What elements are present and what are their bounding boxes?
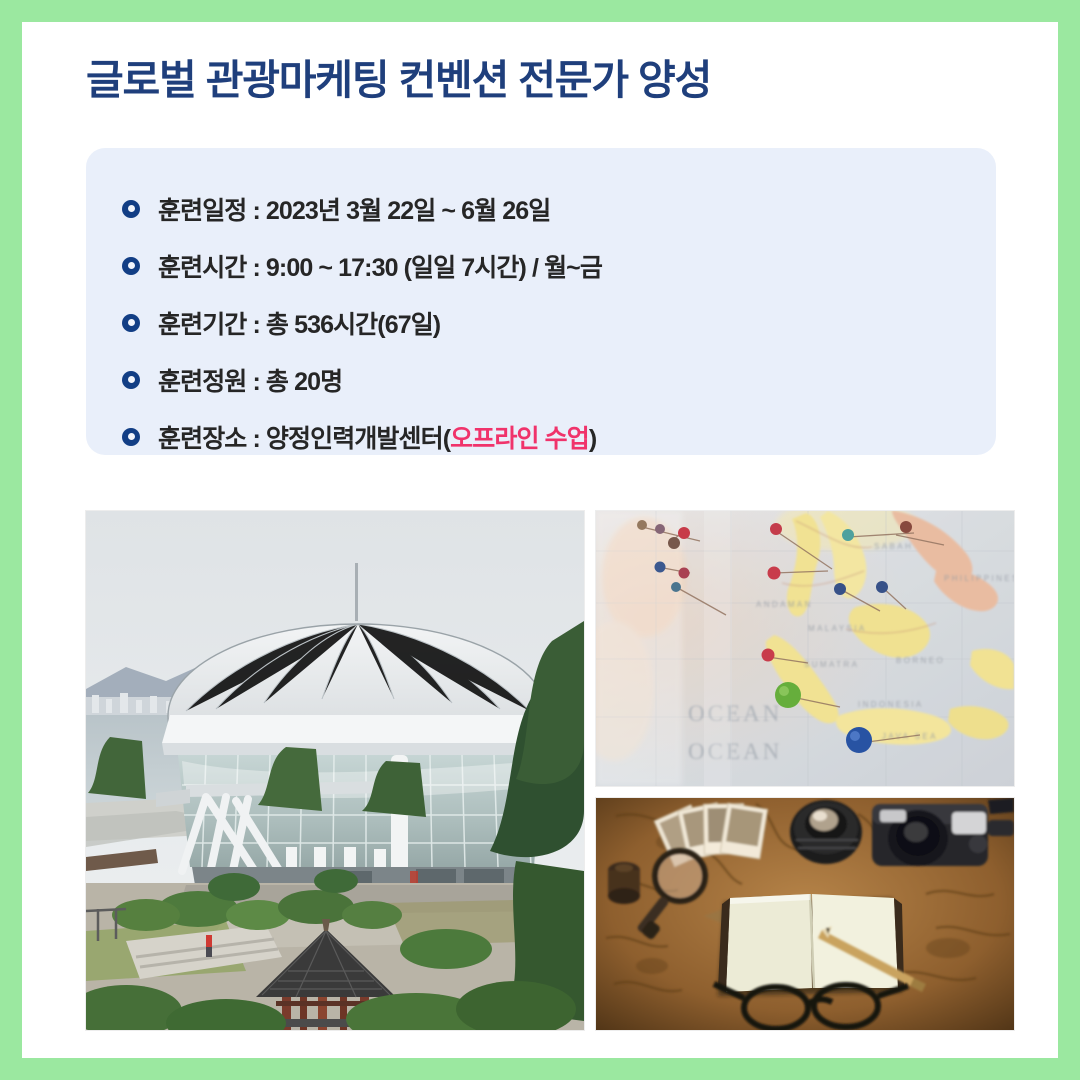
info-row-capacity-text: 훈련정원 : 총 20명 [158,362,342,398]
info-row-hours: 훈련시간 : 9:00 ~ 17:30 (일일 7시간) / 월~금 [86,237,996,294]
info-row-duration: 훈련기간 : 총 536시간(67일) [86,294,996,351]
info-row-capacity: 훈련정원 : 총 20명 [86,351,996,408]
info-location-prefix: 훈련장소 : 양정인력개발센터( [158,425,450,453]
bullet-icon [122,428,140,446]
photo-gallery: OCEAN OCEAN MALAYSIA INDONESIA SABAH PHI… [86,511,1014,1030]
info-row-schedule-text: 훈련일정 : 2023년 3월 22일 ~ 6월 26일 [158,191,550,227]
bullet-icon [122,314,140,332]
info-location-suffix: ) [589,425,596,453]
bullet-icon [122,200,140,218]
info-row-location: 훈련장소 : 양정인력개발센터(오프라인 수업) [86,408,996,465]
training-info-box: 훈련일정 : 2023년 3월 22일 ~ 6월 26일 훈련시간 : 9:00… [86,148,996,455]
world-map-pins-photo: OCEAN OCEAN MALAYSIA INDONESIA SABAH PHI… [596,511,1014,786]
page-title: 글로벌 관광마케팅 컨벤션 전문가 양성 [86,46,986,106]
convention-center-photo [86,511,584,1030]
info-location-highlight: 오프라인 수업 [450,425,589,453]
info-row-hours-text: 훈련시간 : 9:00 ~ 17:30 (일일 7시간) / 월~금 [158,248,602,284]
bullet-icon [122,371,140,389]
bullet-icon [122,257,140,275]
info-row-location-text: 훈련장소 : 양정인력개발센터(오프라인 수업) [158,419,596,455]
info-row-schedule: 훈련일정 : 2023년 3월 22일 ~ 6월 26일 [86,180,996,237]
poster-page: 글로벌 관광마케팅 컨벤션 전문가 양성 훈련일정 : 2023년 3월 22일… [22,22,1058,1058]
travel-desk-photo [596,798,1014,1030]
info-row-duration-text: 훈련기간 : 총 536시간(67일) [158,305,440,341]
